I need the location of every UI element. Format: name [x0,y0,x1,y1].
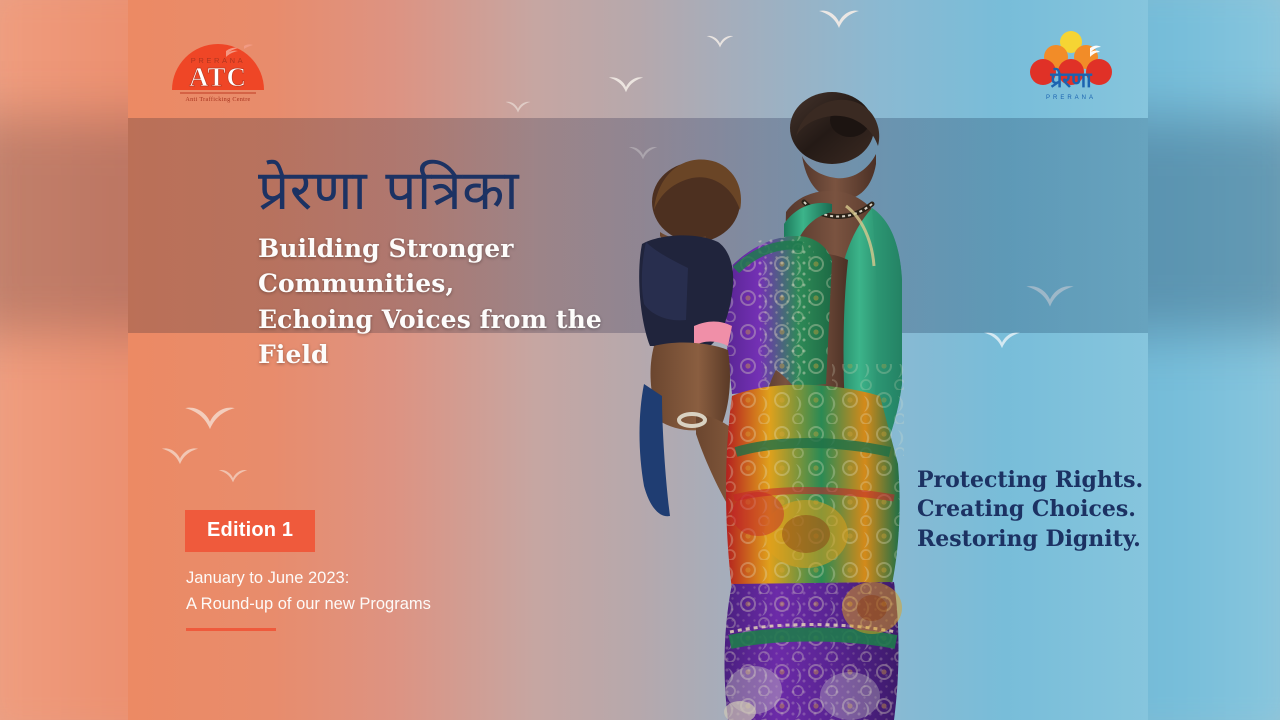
svg-text:Anti Trafficking Centre: Anti Trafficking Centre [185,96,250,103]
edition-note: January to June 2023: A Round-up of our … [186,566,431,617]
edition-badge: Edition 1 [185,510,315,552]
flying-bird-icon [983,330,1021,350]
edition-note-line-2: A Round-up of our new Programs [186,592,431,618]
flying-bird-icon [161,446,199,466]
svg-text:PRERANA: PRERANA [1046,95,1096,101]
flying-bird-icon [818,8,860,30]
tagline-block: Protecting Rights. Creating Choices. Res… [917,466,1143,554]
newsletter-cover-page: PRERANA ATC Anti Trafficking Centre प्रे… [0,0,1280,720]
prerana-logo[interactable]: प्रेरणा PRERANA [1028,30,1114,102]
page-title: प्रेरणा पत्रिका [258,158,678,223]
tagline-line-2: Creating Choices. [917,495,1143,524]
subtitle-line-2: Echoing Voices from the Field [258,302,678,373]
subtitle-line-1: Building Stronger Communities, [258,231,678,302]
tagline-line-3: Restoring Dignity. [917,525,1143,554]
flying-bird-icon [218,468,248,484]
flying-bird-icon [706,34,734,49]
tagline-line-1: Protecting Rights. [917,466,1143,495]
svg-text:ATC: ATC [189,62,247,92]
svg-text:प्रेरणा: प्रेरणा [1049,67,1093,92]
page-subtitle: Building Stronger Communities, Echoing V… [258,231,678,373]
flying-bird-icon [184,404,236,432]
edition-divider-rule [186,628,276,631]
cover-photograph [636,84,936,720]
atc-logo[interactable]: PRERANA ATC Anti Trafficking Centre [168,36,268,104]
edition-note-line-1: January to June 2023: [186,566,431,592]
headline-block: प्रेरणा पत्रिका Building Stronger Commun… [258,158,678,373]
flying-bird-icon [505,100,531,114]
